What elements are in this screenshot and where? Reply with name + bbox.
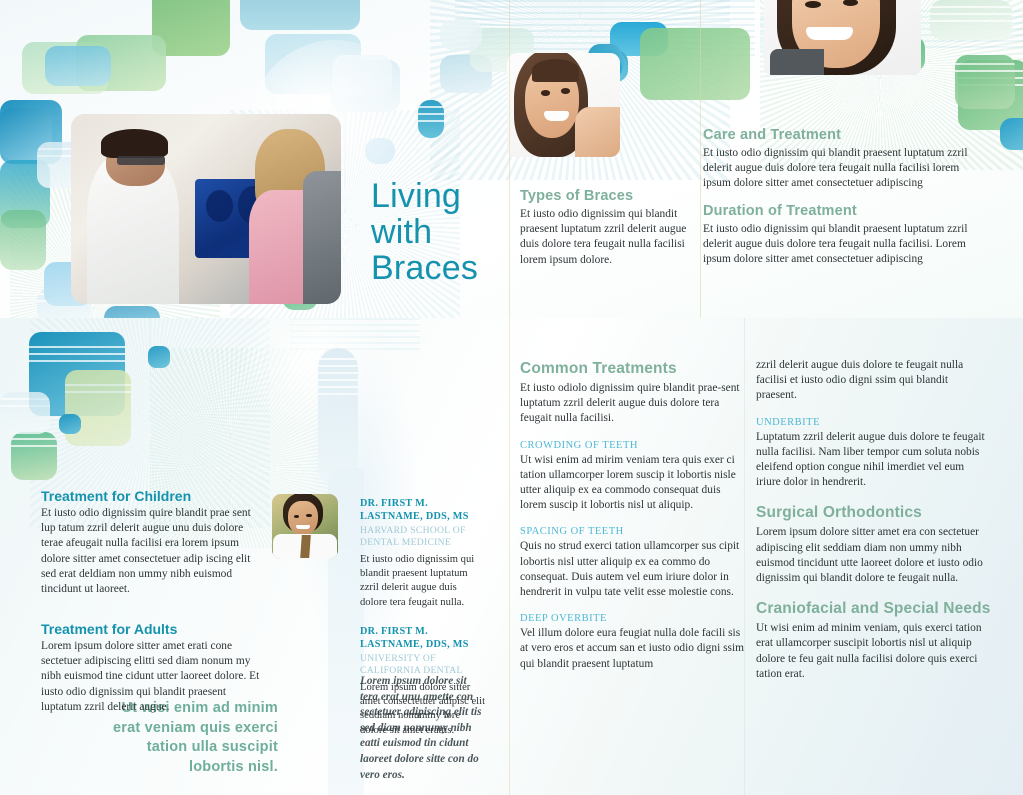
section-body: Ut wisi enim ad minim veniam, quis exerc… — [756, 621, 991, 682]
section-surgical-orthodontics: Surgical Orthodontics Lorem ipsum dolore… — [756, 504, 991, 586]
subsection-label: UNDERBITE — [756, 417, 991, 428]
subsection-label: CROWDING OF TEETH — [520, 440, 745, 451]
doctor-school: HARVARD SCHOOL OF DENTAL MEDICINE — [360, 525, 486, 549]
fold-line-left — [509, 0, 510, 318]
subsection-body: Ut wisi enim ad mirim veniam tera quis e… — [520, 453, 745, 514]
section-heading: Duration of Treatment — [703, 203, 975, 219]
fold-line-right — [700, 0, 701, 318]
section-body: Et iusto odio dignissim quire blandit pr… — [41, 506, 267, 597]
fold-line-left-bottom — [509, 318, 510, 795]
section-treatment-for-adults: Treatment for Adults Lorem ipsum dolore … — [41, 621, 267, 715]
section-heading: Care and Treatment — [703, 127, 975, 143]
subsection-underbite: UNDERBITE Luptatum zzril delerit augue d… — [756, 417, 991, 491]
subsection-spacing-of-teeth: SPACING OF TEETH Quis no strud exerci ta… — [520, 526, 745, 600]
subsection-crowding-of-teeth: CROWDING OF TEETH Ut wisi enim ad mirim … — [520, 440, 745, 514]
continuation-text: zzril delerit augue duis dolore te feuga… — [756, 358, 991, 404]
subsection-deep-overbite: DEEP OVERBITE Vel illum dolore eura feug… — [520, 613, 745, 672]
bottom-right-column: zzril delerit augue duis dolore te feuga… — [756, 358, 991, 682]
subsection-label: DEEP OVERBITE — [520, 613, 745, 624]
section-types-of-braces: Types of Braces Et iusto odio dignissim … — [520, 188, 692, 268]
section-heading: Surgical Orthodontics — [756, 504, 991, 522]
section-heading: Common Treatments — [520, 360, 745, 378]
section-heading: Treatment for Children — [41, 488, 267, 504]
brochure-bottom-panel: Ut wisi enim ad minim erat veniam quis e… — [0, 318, 1023, 795]
section-body: Lorem ipsum dolore sitter amet erati con… — [41, 639, 267, 715]
section-heading: Types of Braces — [520, 188, 692, 204]
doctor-bio-1: DR. FIRST M. LASTNAME, DDS, MS HARVARD S… — [360, 498, 486, 610]
photo-smiling-man — [764, 0, 921, 75]
doctor-school: UNIVERSITY OF CALIFORNIA DENTAL — [360, 653, 486, 677]
section-care-and-treatment: Care and Treatment Et iusto odio digniss… — [703, 127, 975, 192]
section-duration-of-treatment: Duration of Treatment Et iusto odio dign… — [703, 203, 975, 268]
subsection-body: Quis no strud exerci tation ullamcorper … — [520, 539, 745, 600]
section-body: Et iusto odio dignissim qui blandit prae… — [703, 222, 975, 268]
section-craniofacial-and-special-needs: Craniofacial and Special Needs Ut wisi e… — [756, 600, 991, 682]
section-common-treatments: Common Treatments Et iusto odiolo dignis… — [520, 360, 745, 672]
fold-line-right-bottom — [744, 318, 745, 795]
photo-smiling-woman — [507, 53, 620, 157]
subsection-label: SPACING OF TEETH — [520, 526, 745, 537]
section-body: Et iusto odio dignissim qui blandit prae… — [703, 146, 975, 192]
doctor-name: DR. FIRST M. LASTNAME, DDS, MS — [360, 626, 486, 651]
subsection-body: Luptatum zzril delerit augue duis dolore… — [756, 430, 991, 491]
section-heading: Treatment for Adults — [41, 621, 267, 637]
doctor-bio-text: Lorem ipsum dolore sitter amet consectet… — [360, 681, 486, 738]
photo-dentist-with-patient — [71, 114, 341, 304]
section-body: Lorem ipsum dolore sitter amet era con s… — [756, 525, 991, 586]
doctor-name: DR. FIRST M. LASTNAME, DDS, MS — [360, 498, 486, 523]
subsection-body: Vel illum dolore eura feugiat nulla dole… — [520, 626, 745, 672]
section-heading: Craniofacial and Special Needs — [756, 600, 991, 618]
brochure-top-panel: Living with Braces Types of B — [0, 0, 1023, 318]
photo-doctor-male — [272, 494, 338, 559]
doctor-bio-2: DR. FIRST M. LASTNAME, DDS, MS UNIVERSIT… — [360, 626, 486, 738]
brochure-page: Living with Braces Types of B — [0, 0, 1023, 795]
section-body: Et iusto odiolo dignissim quire blandit … — [520, 381, 745, 427]
section-body: Et iusto odio dignissim qui blandit prae… — [520, 207, 692, 268]
doctor-bio-text: Et iusto odio dignissim qui blandit prae… — [360, 553, 486, 610]
section-treatment-for-children: Treatment for Children Et iusto odio dig… — [41, 488, 267, 597]
